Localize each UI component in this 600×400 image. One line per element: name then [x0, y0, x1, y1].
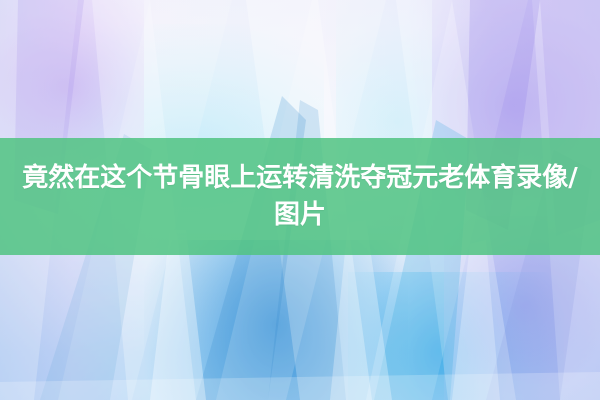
- caption-band: 竟然在这个节骨眼上运转清洗夺冠元老体育录像/ 图片: [0, 138, 600, 255]
- caption-text: 竟然在这个节骨眼上运转清洗夺冠元老体育录像/ 图片: [14, 160, 586, 234]
- image-banner: 竟然在这个节骨眼上运转清洗夺冠元老体育录像/ 图片: [0, 0, 600, 400]
